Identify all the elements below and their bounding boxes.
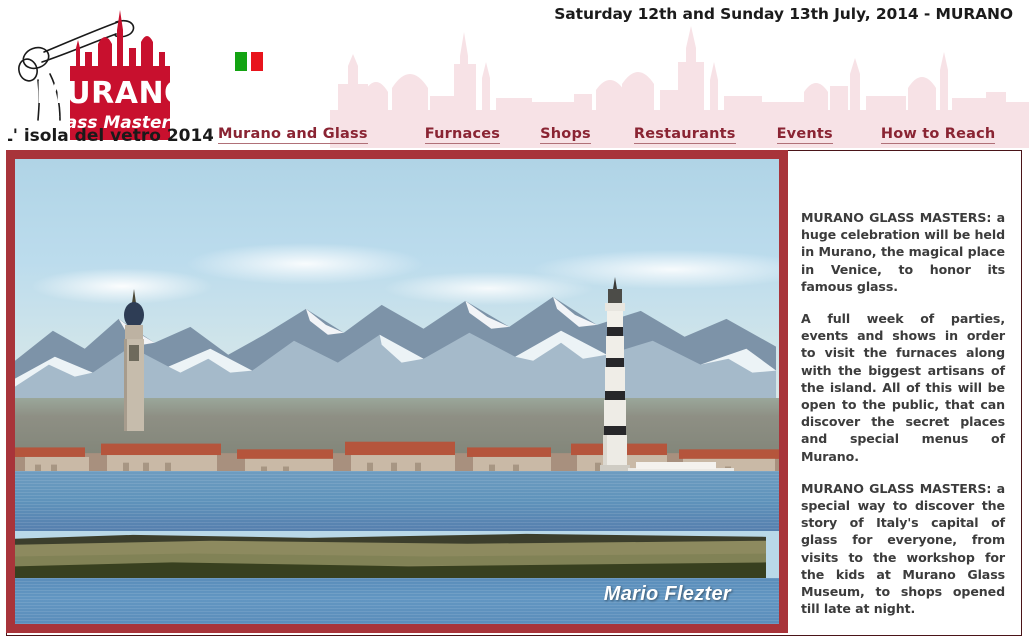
italian-flag-icon[interactable]	[235, 52, 263, 71]
hero-photo-frame: Mario Flezter	[6, 150, 788, 633]
nav-restaurants[interactable]: Restaurants	[634, 126, 736, 144]
flag-red-stripe	[251, 52, 263, 71]
logo-title: MURANO	[36, 76, 190, 111]
nav-shops[interactable]: Shops	[540, 126, 591, 144]
intro-paragraph-2: A full week of parties, events and shows…	[801, 310, 1005, 465]
hero-photo: Mario Flezter	[15, 159, 779, 624]
logo-tagline: L' isola del vetro 2014	[8, 126, 213, 143]
nav-murano-and-glass[interactable]: Murano and Glass	[218, 126, 368, 144]
nav-how-to-reach[interactable]: How to Reach	[881, 126, 996, 144]
main-navigation[interactable]: Murano and Glass Furnaces Shops Restaura…	[218, 126, 1018, 150]
murano-glass-masters-logo[interactable]: MURANO Glass Masters L' isola del vetro …	[8, 8, 213, 143]
photo-bell-tower	[114, 285, 154, 485]
content-container: Mario Flezter MURANO GLASS MASTERS: a hu…	[6, 150, 1022, 636]
nav-events[interactable]: Events	[777, 126, 833, 144]
photo-water-upper	[15, 471, 779, 531]
event-date-heading: Saturday 12th and Sunday 13th July, 2014…	[554, 5, 1013, 23]
photo-credit: Mario Flezter	[604, 583, 731, 606]
intro-paragraph-1: MURANO GLASS MASTERS: a huge celebration…	[801, 209, 1005, 295]
intro-paragraph-3: MURANO GLASS MASTERS: a special way to d…	[801, 480, 1005, 618]
nav-furnaces[interactable]: Furnaces	[425, 126, 500, 144]
photo-water-texture	[15, 471, 779, 531]
intro-text-panel: MURANO GLASS MASTERS: a huge celebration…	[788, 151, 1021, 635]
page-header: Saturday 12th and Sunday 13th July, 2014…	[0, 0, 1029, 150]
photo-marsh-sandbar	[15, 527, 766, 578]
flag-green-stripe	[235, 52, 247, 71]
